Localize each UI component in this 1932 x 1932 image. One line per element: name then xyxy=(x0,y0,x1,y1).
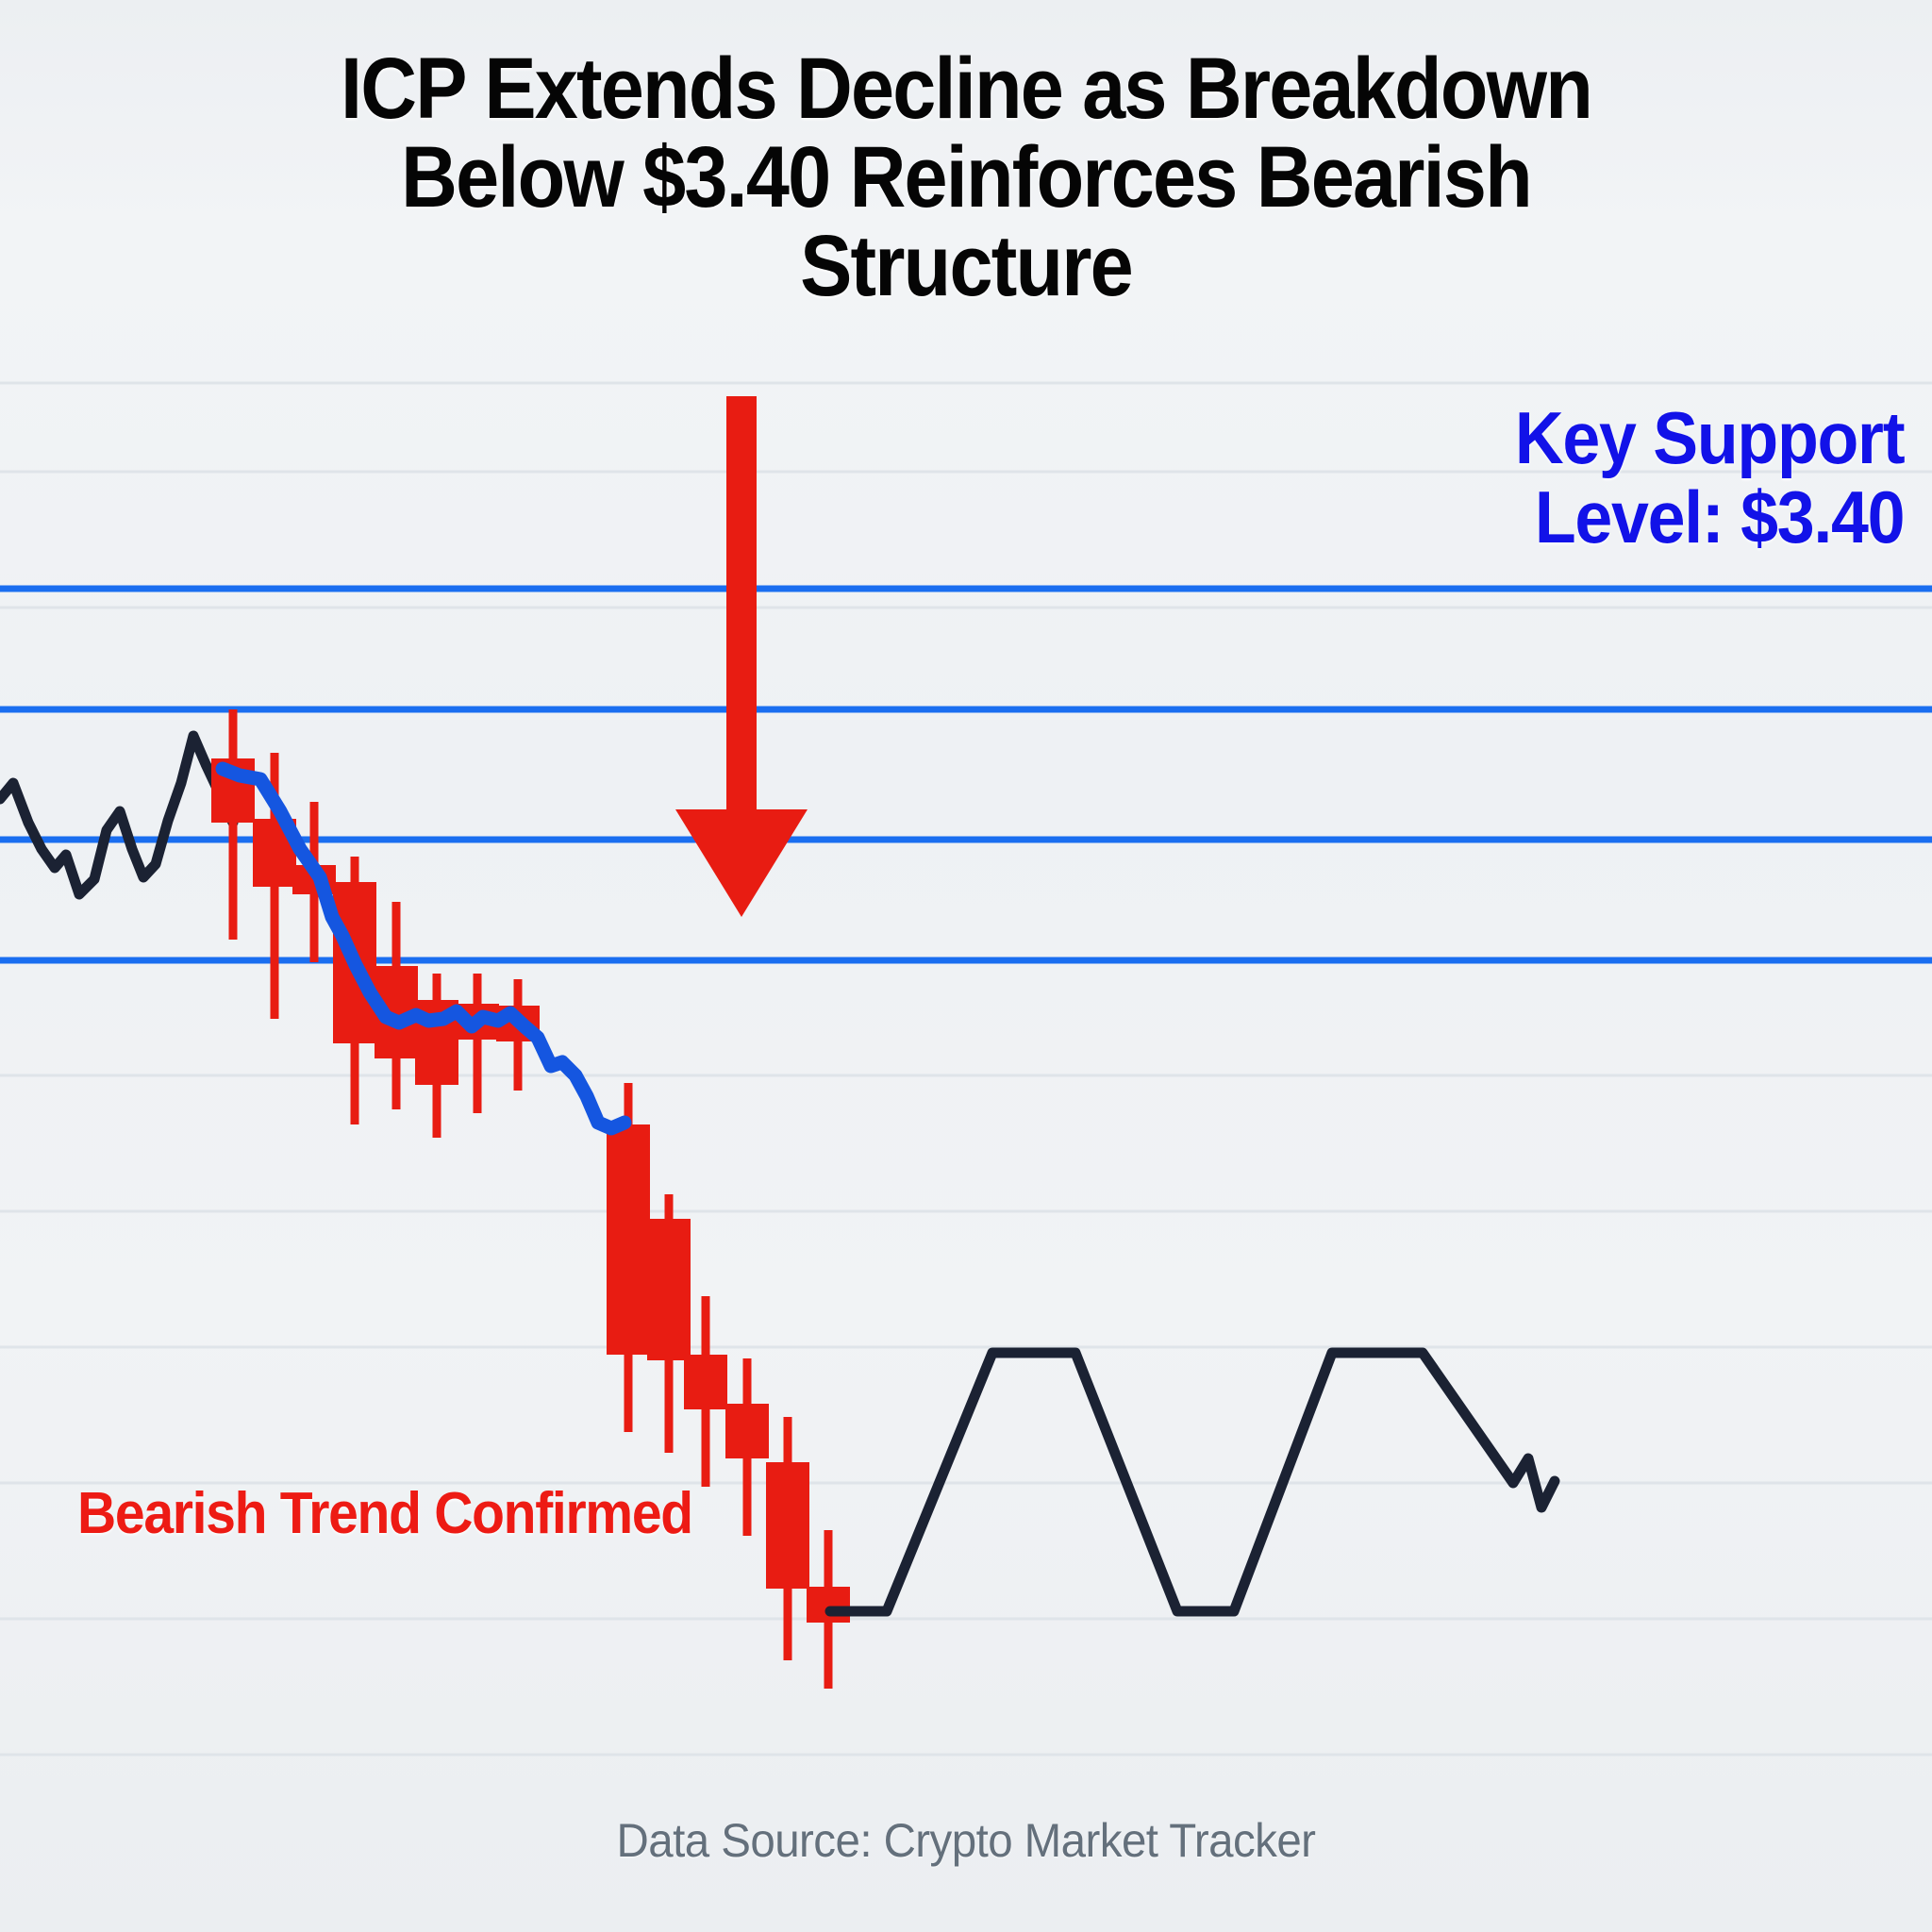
key-support-line-2: Level: $3.40 xyxy=(1515,480,1904,554)
candle-body xyxy=(607,1124,650,1355)
candlestick xyxy=(607,1083,650,1432)
candle-body xyxy=(807,1587,850,1623)
key-support-line-1: Key Support xyxy=(1515,396,1904,479)
bearish-trend-annotation: Bearish Trend Confirmed xyxy=(77,1485,692,1543)
candlestick xyxy=(415,974,458,1138)
chart-canvas xyxy=(0,340,1932,1811)
page-title-line-1: ICP Extends Decline as Breakdown xyxy=(215,45,1716,134)
page-title-line-3: Structure xyxy=(215,223,1716,311)
candlestick xyxy=(647,1194,691,1453)
candle-body xyxy=(684,1355,727,1409)
candle-body xyxy=(725,1404,769,1458)
candlestick xyxy=(725,1358,769,1536)
candle-body xyxy=(647,1219,691,1360)
candle-wick xyxy=(474,974,482,1113)
candle-body xyxy=(766,1462,809,1589)
candlestick xyxy=(456,974,499,1113)
candlestick-chart xyxy=(0,340,1932,1811)
support-lines-group xyxy=(0,589,1932,960)
price-line xyxy=(0,736,233,894)
down-arrow-icon xyxy=(675,396,808,917)
page-title: ICP Extends Decline as Breakdown Below $… xyxy=(0,45,1932,310)
candlestick xyxy=(766,1417,809,1660)
page-title-line-2: Below $3.40 Reinforces Bearish xyxy=(215,134,1716,223)
candlestick xyxy=(211,709,255,940)
key-support-annotation: Key Support Level: $3.40 xyxy=(1515,401,1904,554)
data-source-caption: Data Source: Crypto Market Tracker xyxy=(48,1813,1884,1868)
candle-wick xyxy=(229,709,238,940)
